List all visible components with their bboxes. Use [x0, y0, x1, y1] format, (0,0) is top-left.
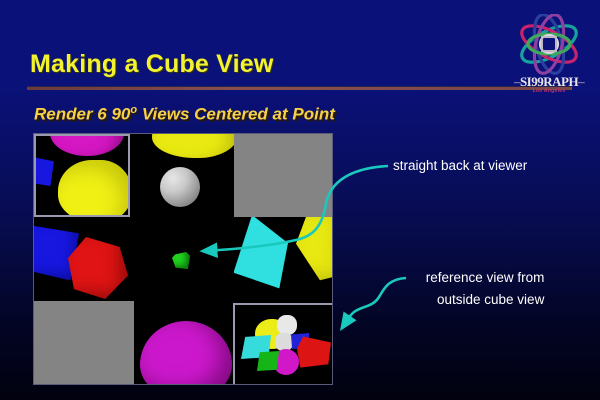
- cube-face-top-left-inset: [34, 134, 130, 217]
- callout-reference-view: reference view fromoutside cube view: [419, 270, 544, 307]
- logo-dash-right: –: [578, 74, 584, 89]
- magenta-sphere-bottom: [140, 321, 232, 385]
- subtitle: Render 6 90o Views Centered at Point: [34, 104, 335, 125]
- ref-white-shape: [277, 315, 297, 335]
- yellow-polygon-shape: [296, 217, 333, 283]
- cube-face-bottom-right-inset: [233, 303, 333, 385]
- subtitle-prefix: Render 6 90: [34, 105, 130, 124]
- page-title: Making a Cube View: [30, 50, 273, 79]
- callout-straight-back: straight back at viewer: [393, 158, 527, 173]
- logo-rings-icon: [503, 14, 595, 78]
- cyan-quad-shape: [234, 217, 288, 293]
- cube-face-bottom-left: [34, 301, 134, 385]
- cube-face-bottom-center: [134, 301, 234, 385]
- title-divider: [27, 86, 572, 90]
- cube-face-middle-center: [134, 217, 234, 301]
- cube-face-middle-left: [34, 217, 134, 301]
- arrow-reference-view: [342, 278, 406, 328]
- green-cube-shape: [172, 252, 190, 269]
- cube-face-top-right: [234, 134, 333, 219]
- ref-red-shape: [297, 335, 331, 369]
- siggraph-logo: –SI99RAPH– Los Angeles: [503, 14, 595, 102]
- ref-green-shape: [257, 351, 279, 371]
- yellow-sphere-shape: [58, 160, 130, 217]
- cube-face-middle-right: [234, 217, 333, 301]
- red-polygon-shape: [68, 237, 128, 299]
- callout-reference-line2: outside cube view: [437, 292, 544, 307]
- magenta-sphere-shape: [50, 134, 124, 156]
- subtitle-suffix: Views Centered at Point: [137, 105, 335, 124]
- slide: Making a Cube View Render 6 90o Views Ce…: [0, 0, 600, 400]
- callout-reference-line1: reference view from: [426, 270, 545, 285]
- logo-location: Los Angeles: [503, 88, 595, 94]
- cube-face-top-center: [134, 134, 234, 219]
- blue-polygon-shape: [34, 156, 54, 186]
- gray-sphere-shape: [160, 167, 200, 207]
- logo-wordmark-text: SI99RAPH: [520, 74, 578, 89]
- cube-map-image: [33, 133, 333, 385]
- yellow-blob-shape: [152, 134, 234, 158]
